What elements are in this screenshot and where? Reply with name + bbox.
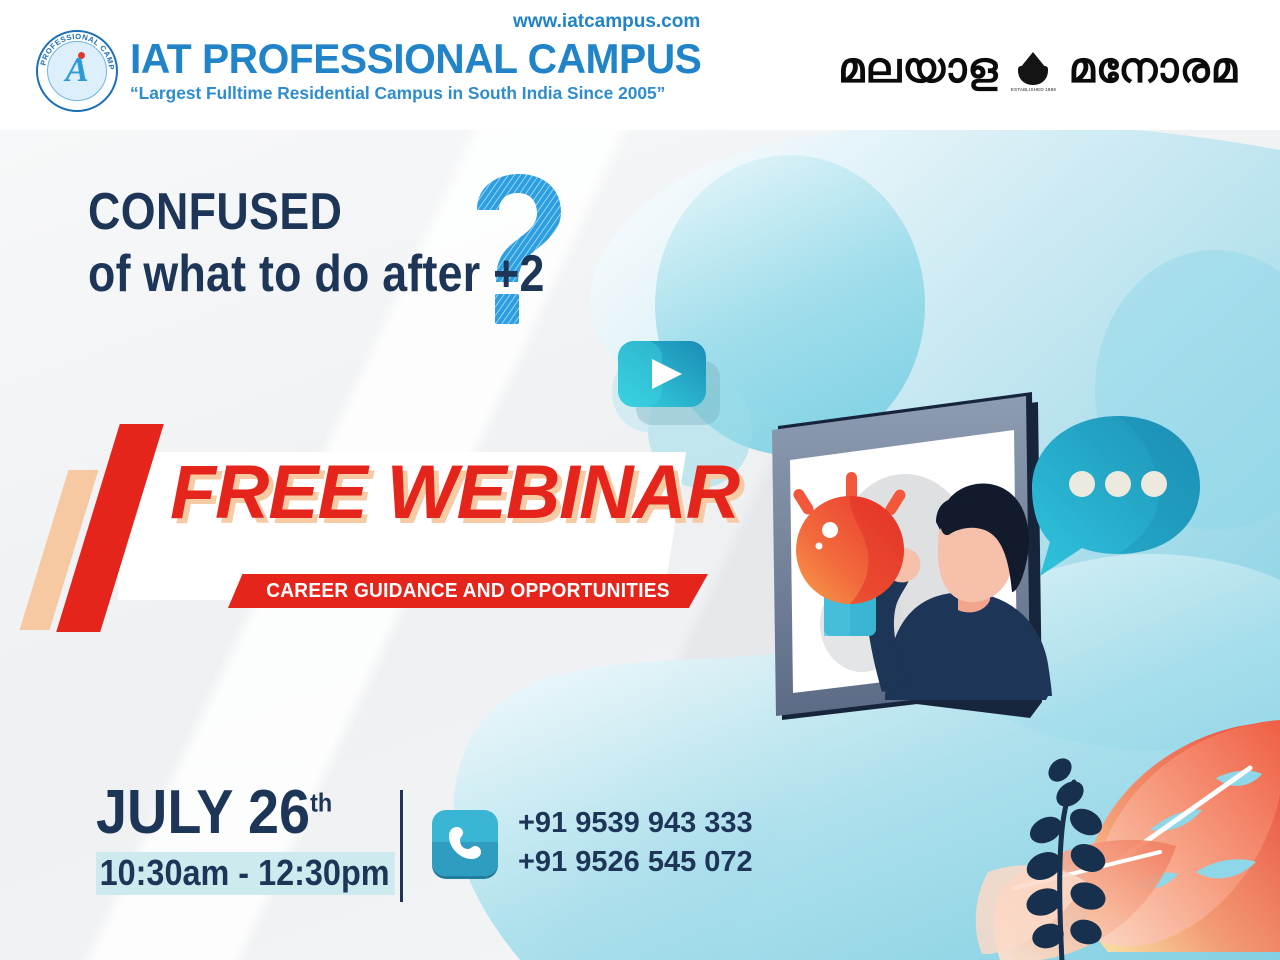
hero-heading: CONFUSED of what to do after +2 (88, 185, 619, 303)
crest-caption: ESTABLISHED 1888 (1011, 87, 1056, 92)
webinar-subtitle-ribbon: CAREER GUIDANCE AND OPPORTUNITIES (228, 574, 708, 608)
event-date-suffix: th (310, 787, 332, 817)
phone-number-1: +91 9539 943 333 (518, 804, 753, 843)
event-date: JULY 26th (96, 782, 395, 844)
seal-monogram: A (36, 52, 118, 87)
crest-shield (1018, 66, 1048, 85)
contact-block[interactable]: +91 9539 943 333 +91 9526 545 072 (432, 804, 753, 883)
partner-logo-malayala-manorama: മലയാള ESTABLISHED 1888 മനോരമ (838, 44, 1238, 92)
partner-name-left: മലയാള (838, 47, 998, 89)
video-play-button-icon[interactable] (608, 333, 724, 429)
partner-name-right: മനോരമ (1068, 47, 1238, 89)
webinar-title: FREE WEBINAR (170, 455, 739, 531)
brand-tagline: “Largest Fulltime Residential Campus in … (130, 83, 713, 104)
phone-glyph (445, 823, 485, 863)
manorama-crest-icon: ESTABLISHED 1888 (1010, 44, 1056, 92)
chat-bubble-three-dots-icon (1032, 416, 1200, 576)
footer-divider (400, 790, 403, 902)
brand-logo-block[interactable]: IAT PROFESSIONAL CAMPUS the world leader… (36, 30, 719, 112)
event-date-block: JULY 26th 10:30am - 12:30pm (96, 782, 428, 895)
hero-line-1: CONFUSED (88, 185, 545, 240)
event-date-text: JULY 26 (96, 778, 310, 847)
brand-name: IAT PROFESSIONAL CAMPUS (130, 38, 701, 81)
brand-website[interactable]: www.iatcampus.com (513, 11, 700, 33)
phone-numbers: +91 9539 943 333 +91 9526 545 072 (518, 804, 753, 883)
circular-campus-seal-icon: IAT PROFESSIONAL CAMPUS the world leader… (36, 30, 118, 112)
hero-line-2: of what to do after +2 (88, 246, 545, 303)
event-time: 10:30am - 12:30pm (96, 852, 395, 895)
page-header: IAT PROFESSIONAL CAMPUS the world leader… (0, 0, 1280, 130)
brand-text-group: www.iatcampus.com IAT PROFESSIONAL CAMPU… (130, 38, 719, 105)
phone-handset-icon[interactable] (432, 810, 498, 876)
tropical-leaf-icon (976, 720, 1280, 960)
webinar-subtitle: CAREER GUIDANCE AND OPPORTUNITIES (266, 579, 670, 603)
phone-number-2: +91 9526 545 072 (518, 843, 753, 882)
webinar-poster: CONFUSED of what to do after +2 FREE WEB… (0, 0, 1280, 960)
